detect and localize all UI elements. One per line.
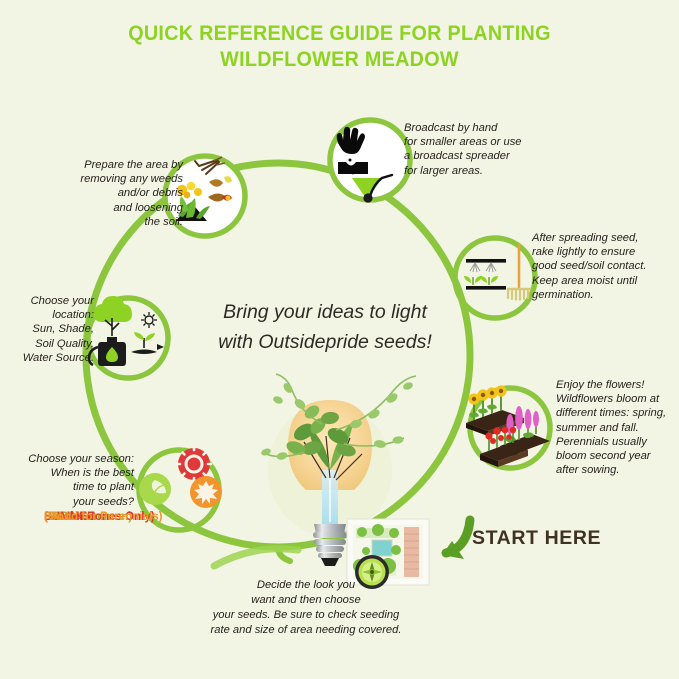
infographic-canvas: QUICK REFERENCE GUIDE FOR PLANTING WILDF… [0, 0, 679, 679]
start-here-label: START HERE [472, 527, 601, 550]
step-text-rake-and-water: After spreading seed, rake lightly to en… [532, 231, 679, 302]
season-leaf-sun-maple-icon [139, 447, 222, 508]
step-text-choose-season: Choose your season: When is the best tim… [6, 452, 134, 509]
step-text-choose-location: Choose your location: Sun, Shade, Soil Q… [4, 294, 94, 365]
step-text-enjoy-flowers: Enjoy the flowers! Wildflowers bloom at … [556, 378, 679, 477]
tagline-line-1: Bring your ideas to light [175, 297, 475, 327]
center-tagline: Bring your ideas to light with Outsidepr… [175, 297, 475, 357]
step-text-prepare-area: Prepare the area by removing any weeds a… [48, 158, 183, 229]
node-choose-location[interactable] [88, 296, 168, 378]
node-enjoy-flowers[interactable] [466, 385, 550, 468]
step-text-decide-look: Decide the look you want and then choose… [186, 578, 426, 638]
season-fall-note: (Good for Perennials) [44, 509, 163, 525]
tagline-line-2: with Outsidepride seeds! [175, 327, 475, 357]
node-broadcast-seed[interactable] [330, 120, 410, 203]
start-here-arrow [442, 520, 470, 559]
step-text-broadcast-seed: Broadcast by hand for smaller areas or u… [404, 121, 579, 178]
sprinkler-rake-icon [464, 245, 531, 300]
